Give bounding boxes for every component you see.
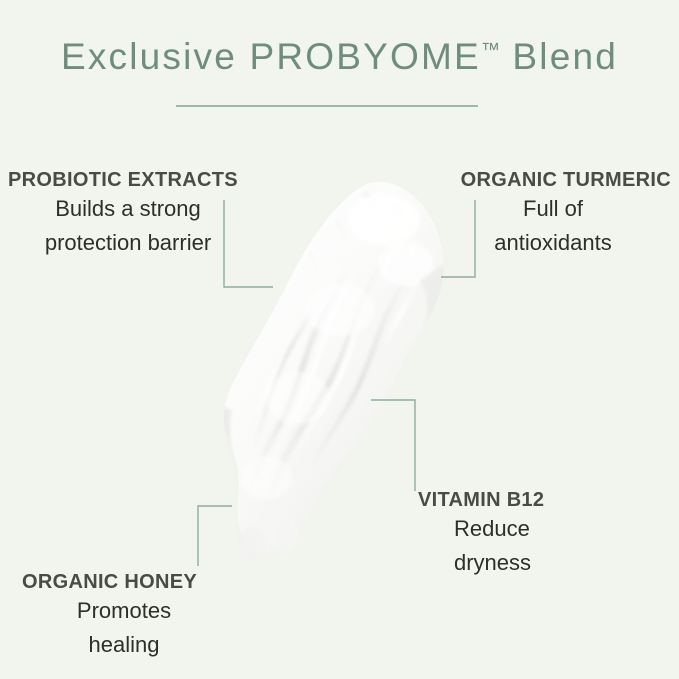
callout-organic-turmeric: ORGANIC TURMERIC Full of antioxidants xyxy=(435,168,671,260)
callout-description-line2: healing xyxy=(24,628,224,662)
callout-heading: VITAMIN B12 xyxy=(418,488,544,512)
callout-organic-honey: ORGANIC HONEY Promotes healing xyxy=(22,570,224,662)
callout-description-line2: antioxidants xyxy=(435,226,671,260)
callout-description-line2: protection barrier xyxy=(14,226,242,260)
callout-heading: PROBIOTIC EXTRACTS xyxy=(8,168,242,192)
connector-organic-honey xyxy=(198,506,232,566)
callout-description-line1: Promotes xyxy=(24,594,224,628)
callout-description: Reduce dryness xyxy=(454,512,544,580)
page-title: Exclusive PROBYOME™ Blend xyxy=(0,36,679,79)
callout-description: Full of antioxidants xyxy=(435,192,671,260)
page-title-suffix: Blend xyxy=(500,36,618,77)
callout-description-line1: Full of xyxy=(435,192,671,226)
callout-heading: ORGANIC HONEY xyxy=(22,570,224,594)
title-block: Exclusive PROBYOME™ Blend xyxy=(0,36,679,79)
callout-description-line1: Builds a strong xyxy=(14,192,242,226)
page-title-prefix: Exclusive PROBYOME xyxy=(61,36,481,77)
callout-heading: ORGANIC TURMERIC xyxy=(435,168,671,192)
product-ingredient-infographic: Exclusive PROBYOME™ Blend xyxy=(0,0,679,679)
callout-probiotic-extracts: PROBIOTIC EXTRACTS Builds a strong prote… xyxy=(8,168,242,260)
title-divider xyxy=(176,105,478,107)
callout-description: Promotes healing xyxy=(24,594,224,662)
connector-vitamin-b12 xyxy=(371,400,415,491)
callout-description-line1: Reduce xyxy=(454,512,544,546)
callout-description-line2: dryness xyxy=(454,546,544,580)
callout-description: Builds a strong protection barrier xyxy=(14,192,242,260)
callout-vitamin-b12: VITAMIN B12 Reduce dryness xyxy=(418,488,544,580)
trademark-symbol: ™ xyxy=(481,40,500,61)
